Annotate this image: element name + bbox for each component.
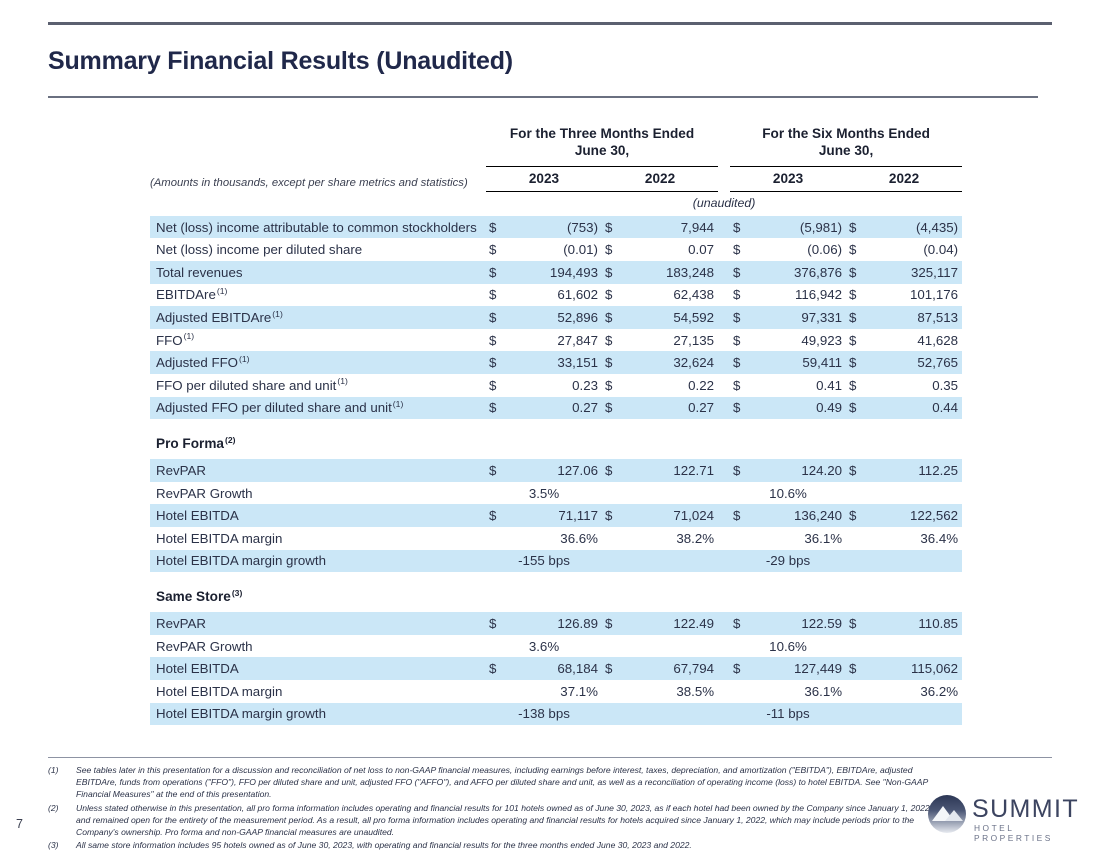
row-value [846,635,962,658]
row-value: 38.5% [624,680,718,703]
col-header-q-2022: 2022 [602,166,718,191]
table-row: Hotel EBITDA$71,117$71,024$136,240$122,5… [150,504,962,527]
symbol-spacer [486,680,508,703]
row-label: RevPAR [150,459,486,482]
row-label: Hotel EBITDA margin [150,527,486,550]
currency-symbol: $ [486,657,508,680]
currency-symbol: $ [486,351,508,374]
row-label: Adjusted FFO per diluted share and unit(… [150,397,486,420]
row-value: 3.5% [486,482,602,505]
row-value: 36.1% [752,680,846,703]
row-value: 183,248 [624,261,718,284]
currency-symbol: $ [486,612,508,635]
row-value: 101,176 [868,284,962,307]
row-label: Net (loss) income attributable to common… [150,216,486,239]
footnote-marker: (3) [232,588,243,598]
row-label: FFO per diluted share and unit(1) [150,374,486,397]
currency-symbol: $ [486,397,508,420]
row-value: 32,624 [624,351,718,374]
row-value: 376,876 [752,261,846,284]
currency-symbol: $ [846,261,868,284]
row-value: 325,117 [868,261,962,284]
row-value: 0.22 [624,374,718,397]
row-value: 127.06 [508,459,602,482]
footnote-number: (2) [48,802,76,839]
currency-symbol: $ [602,329,624,352]
footnote-marker: (1) [337,376,348,386]
table-row: Hotel EBITDA margin36.6%38.2%36.1%36.4% [150,527,962,550]
row-value: (5,981) [752,216,846,239]
currency-symbol: $ [846,284,868,307]
currency-symbol: $ [486,329,508,352]
currency-symbol: $ [730,612,752,635]
section-gap [150,451,962,459]
table-row: RevPAR$126.89$122.49$122.59$110.85 [150,612,962,635]
currency-symbol: $ [846,612,868,635]
table-row: Hotel EBITDA margin growth-155 bps-29 bp… [150,550,962,573]
row-label: Adjusted FFO(1) [150,351,486,374]
currency-symbol: $ [846,329,868,352]
currency-symbol: $ [602,612,624,635]
row-value: 7,944 [624,216,718,239]
row-value [846,482,962,505]
footnote-text: Unless stated otherwise in this presenta… [76,802,932,839]
symbol-spacer [846,527,868,550]
row-label: RevPAR Growth [150,482,486,505]
row-value: 0.27 [624,397,718,420]
row-value: 52,765 [868,351,962,374]
row-value: 59,411 [752,351,846,374]
footnote-text: See tables later in this presentation fo… [76,764,932,801]
row-value: 122.49 [624,612,718,635]
currency-symbol: $ [602,374,624,397]
row-value [846,703,962,726]
row-value: 10.6% [730,482,846,505]
unaudited-note: (unaudited) [486,191,962,216]
footnote-item: (2)Unless stated otherwise in this prese… [48,802,932,839]
currency-symbol: $ [846,459,868,482]
currency-symbol: $ [846,504,868,527]
row-value: 36.2% [868,680,962,703]
currency-symbol: $ [846,374,868,397]
row-value: 27,847 [508,329,602,352]
row-value [602,703,718,726]
summary-financial-table: For the Three Months EndedJune 30,For th… [150,126,962,725]
row-value: 0.35 [868,374,962,397]
currency-symbol: $ [602,397,624,420]
row-value: 97,331 [752,306,846,329]
page-title: Summary Financial Results (Unaudited) [48,47,513,76]
currency-symbol: $ [602,459,624,482]
table-row: Hotel EBITDA$68,184$67,794$127,449$115,0… [150,657,962,680]
currency-symbol: $ [730,238,752,261]
col-header-ytd-2023: 2023 [730,166,846,191]
footnote-marker: (1) [239,354,250,364]
row-value [846,550,962,573]
table-group-header-row: For the Three Months EndedJune 30,For th… [150,126,962,166]
table-row: Net (loss) income attributable to common… [150,216,962,239]
row-value: 122.59 [752,612,846,635]
logo-wordmark: SUMMIT [972,795,1079,824]
table-row: RevPAR Growth3.5%10.6% [150,482,962,505]
currency-symbol: $ [730,216,752,239]
currency-symbol: $ [846,306,868,329]
currency-symbol: $ [846,216,868,239]
top-divider [48,22,1052,25]
row-label: EBITDAre(1) [150,284,486,307]
row-value: 36.6% [508,527,602,550]
symbol-spacer [602,527,624,550]
currency-symbol: $ [602,261,624,284]
row-label: Hotel EBITDA margin growth [150,550,486,573]
unaudited-note-row: (unaudited) [150,191,962,216]
currency-symbol: $ [730,459,752,482]
row-value: 37.1% [508,680,602,703]
row-value: 112.25 [868,459,962,482]
currency-symbol: $ [730,306,752,329]
row-value: 136,240 [752,504,846,527]
footnote-number: (1) [48,764,76,801]
logo-tagline: HOTEL PROPERTIES [974,823,1080,843]
footnote-divider [48,757,1052,758]
row-value: 36.1% [752,527,846,550]
row-value: 126.89 [508,612,602,635]
row-value: 0.41 [752,374,846,397]
row-value: 71,117 [508,504,602,527]
row-value: (0.06) [752,238,846,261]
row-label: RevPAR Growth [150,635,486,658]
currency-symbol: $ [846,397,868,420]
amounts-note: (Amounts in thousands, except per share … [150,166,486,191]
footnote-item: (3)All same store information includes 9… [48,839,932,851]
currency-symbol: $ [486,504,508,527]
row-value: 0.07 [624,238,718,261]
currency-symbol: $ [846,657,868,680]
table-row: RevPAR$127.06$122.71$124.20$112.25 [150,459,962,482]
table-row: Net (loss) income per diluted share$(0.0… [150,238,962,261]
symbol-spacer [730,680,752,703]
row-value: 115,062 [868,657,962,680]
row-value: 194,493 [508,261,602,284]
currency-symbol: $ [486,459,508,482]
footnote-marker: (2) [225,435,236,445]
row-value: 0.27 [508,397,602,420]
table-row: EBITDAre(1)$61,602$62,438$116,942$101,17… [150,284,962,307]
row-label: Net (loss) income per diluted share [150,238,486,261]
currency-symbol: $ [730,504,752,527]
row-value [602,550,718,573]
currency-symbol: $ [486,216,508,239]
table-row: RevPAR Growth3.6%10.6% [150,635,962,658]
row-value: -29 bps [730,550,846,573]
table-row: FFO(1)$27,847$27,135$49,923$41,628 [150,329,962,352]
section-spacer [150,572,962,589]
row-value: 116,942 [752,284,846,307]
title-divider [48,96,1038,98]
currency-symbol: $ [846,351,868,374]
mountain-icon [928,795,966,833]
currency-symbol: $ [486,238,508,261]
currency-symbol: $ [602,504,624,527]
row-value: (0.01) [508,238,602,261]
currency-symbol: $ [486,284,508,307]
row-value: 68,184 [508,657,602,680]
row-value: 124.20 [752,459,846,482]
row-value: (4,435) [868,216,962,239]
currency-symbol: $ [730,374,752,397]
financial-table-container: For the Three Months EndedJune 30,For th… [150,126,950,725]
header-spacer [150,126,486,166]
currency-symbol: $ [730,397,752,420]
footnote-marker: (1) [272,309,283,319]
group-header-six-months: For the Six Months EndedJune 30, [730,126,962,166]
row-value: 110.85 [868,612,962,635]
currency-symbol: $ [730,351,752,374]
row-value: 127,449 [752,657,846,680]
row-value: 36.4% [868,527,962,550]
currency-symbol: $ [730,284,752,307]
row-value: -11 bps [730,703,846,726]
row-value: 41,628 [868,329,962,352]
row-label: FFO(1) [150,329,486,352]
summit-hotel-properties-logo: SUMMIT HOTEL PROPERTIES [928,793,1080,839]
row-value: 0.49 [752,397,846,420]
row-value: (753) [508,216,602,239]
col-header-q-2023: 2023 [486,166,602,191]
footnote-marker: (1) [393,399,404,409]
table-row: Adjusted FFO(1)$33,151$32,624$59,411$52,… [150,351,962,374]
row-value: -138 bps [486,703,602,726]
currency-symbol: $ [730,329,752,352]
row-label: Hotel EBITDA [150,504,486,527]
row-value: 52,896 [508,306,602,329]
row-value: (0.04) [868,238,962,261]
currency-symbol: $ [602,351,624,374]
row-value: 3.6% [486,635,602,658]
table-row: Adjusted EBITDAre(1)$52,896$54,592$97,33… [150,306,962,329]
table-row: Hotel EBITDA margin growth-138 bps-11 bp… [150,703,962,726]
row-value: 0.23 [508,374,602,397]
currency-symbol: $ [602,657,624,680]
row-label: Hotel EBITDA margin growth [150,703,486,726]
row-value: -155 bps [486,550,602,573]
table-year-header-row: (Amounts in thousands, except per share … [150,166,962,191]
footnote-text: All same store information includes 95 h… [76,839,932,851]
footnote-marker: (1) [184,331,195,341]
currency-symbol: $ [602,238,624,261]
row-value: 122,562 [868,504,962,527]
currency-symbol: $ [602,216,624,239]
currency-symbol: $ [730,261,752,284]
currency-symbol: $ [602,284,624,307]
section-spacer [150,419,962,436]
section-title-pro-forma: Pro Forma(2) [150,436,486,451]
row-value: 71,024 [624,504,718,527]
section-title-same-store: Same Store(3) [150,589,486,604]
row-label: Hotel EBITDA margin [150,680,486,703]
row-value: 27,135 [624,329,718,352]
row-value: 62,438 [624,284,718,307]
row-label: Hotel EBITDA [150,657,486,680]
row-value: 0.44 [868,397,962,420]
table-row: Hotel EBITDA margin37.1%38.5%36.1%36.2% [150,680,962,703]
footnote-item: (1)See tables later in this presentation… [48,764,932,801]
currency-symbol: $ [846,238,868,261]
row-value: 87,513 [868,306,962,329]
group-header-three-months: For the Three Months EndedJune 30, [486,126,718,166]
row-label: RevPAR [150,612,486,635]
currency-symbol: $ [486,261,508,284]
row-label: Total revenues [150,261,486,284]
section-header-row: Pro Forma(2) [150,436,962,451]
currency-symbol: $ [486,306,508,329]
row-value: 10.6% [730,635,846,658]
page-number: 7 [16,817,23,831]
row-value: 61,602 [508,284,602,307]
symbol-spacer [602,680,624,703]
footnote-number: (3) [48,839,76,851]
row-value [602,635,718,658]
footnote-marker: (1) [217,286,228,296]
row-value [602,482,718,505]
row-value: 33,151 [508,351,602,374]
footnotes: (1)See tables later in this presentation… [48,764,932,852]
row-value: 67,794 [624,657,718,680]
symbol-spacer [846,680,868,703]
table-row: FFO per diluted share and unit(1)$0.23$0… [150,374,962,397]
section-gap [150,604,962,612]
currency-symbol: $ [602,306,624,329]
table-row: Adjusted FFO per diluted share and unit(… [150,397,962,420]
currency-symbol: $ [730,657,752,680]
row-value: 49,923 [752,329,846,352]
row-value: 122.71 [624,459,718,482]
row-value: 54,592 [624,306,718,329]
row-label: Adjusted EBITDAre(1) [150,306,486,329]
section-header-row: Same Store(3) [150,589,962,604]
col-header-ytd-2022: 2022 [846,166,962,191]
table-row: Total revenues$194,493$183,248$376,876$3… [150,261,962,284]
symbol-spacer [486,527,508,550]
currency-symbol: $ [486,374,508,397]
symbol-spacer [730,527,752,550]
row-value: 38.2% [624,527,718,550]
